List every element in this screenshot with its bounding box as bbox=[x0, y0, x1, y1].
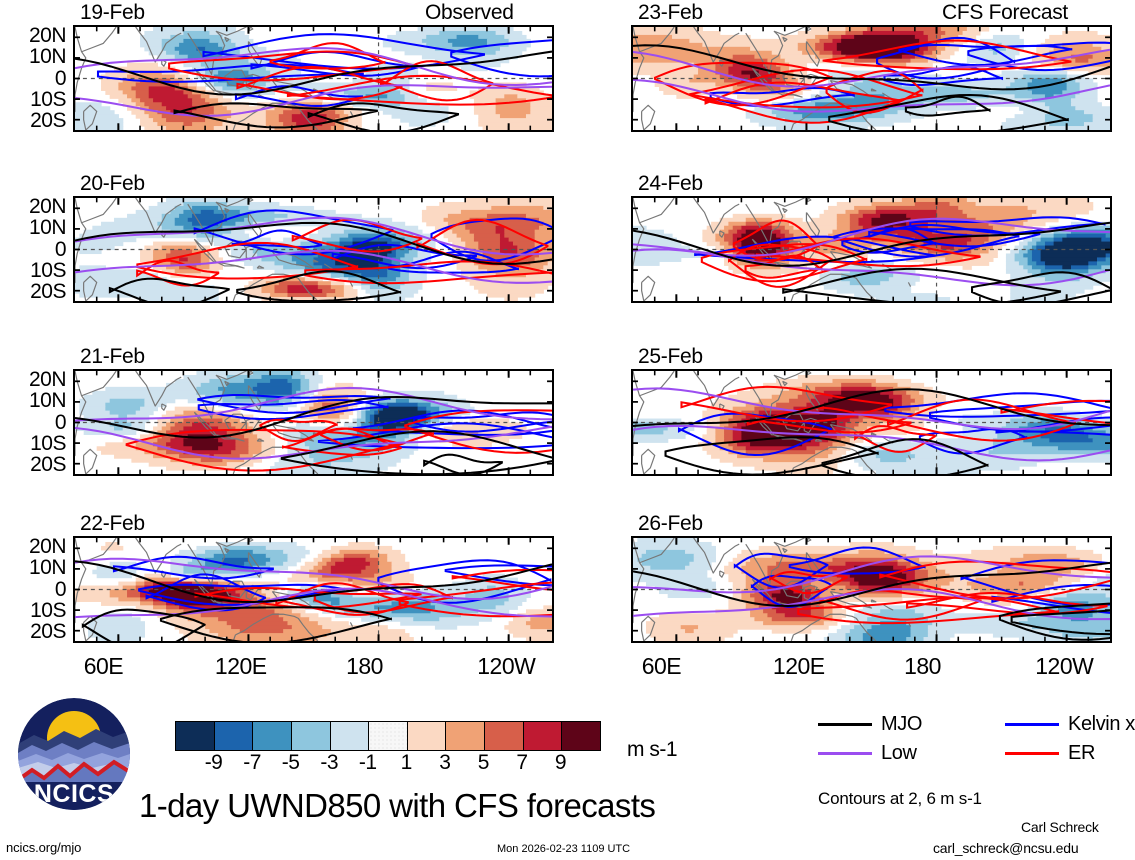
panel-date-label: 23-Feb bbox=[638, 1, 703, 25]
column-header: Observed bbox=[425, 1, 514, 25]
y-tick-label: 20S bbox=[0, 453, 66, 477]
map-panel-23-feb bbox=[631, 25, 1112, 132]
y-tick-label: 20N bbox=[0, 195, 66, 219]
y-tick-label: 20N bbox=[0, 535, 66, 559]
panel-date-label: 19-Feb bbox=[80, 1, 145, 25]
main-title: 1-day UWND850 with CFS forecasts bbox=[139, 787, 655, 825]
colorbar bbox=[175, 721, 601, 751]
panel-date-label: 22-Feb bbox=[80, 512, 145, 536]
panel-plot bbox=[75, 27, 552, 130]
colorbar-tick-label: 3 bbox=[425, 751, 465, 775]
y-tick-label: 10N bbox=[0, 45, 66, 69]
ncics-logo: NCICS bbox=[18, 698, 130, 810]
colorbar-tick-label: 1 bbox=[386, 751, 426, 775]
colorbar-tick-label: -7 bbox=[232, 751, 272, 775]
legend-line-swatch bbox=[1005, 723, 1059, 726]
legend-label: Low bbox=[881, 742, 917, 765]
map-panel-26-feb bbox=[631, 536, 1112, 643]
colorbar-segment bbox=[446, 722, 485, 750]
map-panel-20-feb bbox=[73, 196, 554, 303]
y-tick-label: 20S bbox=[0, 280, 66, 304]
legend-label: Kelvin x2 bbox=[1068, 713, 1135, 736]
x-tick-label: 180 bbox=[904, 653, 941, 680]
colorbar-tick-label: -1 bbox=[348, 751, 388, 775]
ncics-logo-graphic: NCICS bbox=[18, 698, 130, 810]
figure-canvas: 19-FebObserved20-Feb21-Feb22-Feb23-FebCF… bbox=[0, 0, 1135, 860]
colorbar-tick-label: -9 bbox=[194, 751, 234, 775]
map-panel-22-feb bbox=[73, 536, 554, 643]
panel-plot bbox=[75, 198, 552, 301]
colorbar-unit-label: m s-1 bbox=[627, 738, 677, 762]
site-url[interactable]: ncics.org/mjo bbox=[6, 840, 81, 855]
colorbar-segment bbox=[176, 722, 215, 750]
colorbar-tick-label: -5 bbox=[271, 751, 311, 775]
map-panel-21-feb bbox=[73, 369, 554, 476]
x-tick-label: 120E bbox=[773, 653, 825, 680]
legend-line-swatch bbox=[818, 752, 872, 755]
colorbar-segment bbox=[253, 722, 292, 750]
credit-name: Carl Schreck bbox=[1021, 819, 1099, 835]
y-tick-label: 0 bbox=[0, 67, 66, 91]
credit-email: carl_schreck@ncsu.edu bbox=[933, 840, 1078, 856]
legend-line-swatch bbox=[818, 723, 872, 726]
map-panel-25-feb bbox=[631, 369, 1112, 476]
y-tick-label: 20S bbox=[0, 620, 66, 644]
map-panel-24-feb bbox=[631, 196, 1112, 303]
panel-date-label: 25-Feb bbox=[638, 345, 703, 369]
panel-plot bbox=[75, 371, 552, 474]
map-panel-19-feb bbox=[73, 25, 554, 132]
x-tick-label: 60E bbox=[642, 653, 681, 680]
colorbar-segment bbox=[485, 722, 524, 750]
y-tick-label: 0 bbox=[0, 578, 66, 602]
panel-plot bbox=[633, 371, 1110, 474]
y-tick-label: 10N bbox=[0, 216, 66, 240]
x-tick-label: 120W bbox=[477, 653, 535, 680]
x-tick-label: 180 bbox=[346, 653, 383, 680]
colorbar-segment bbox=[562, 722, 600, 750]
x-tick-label: 120W bbox=[1035, 653, 1093, 680]
legend-item-er: ER bbox=[1005, 742, 1095, 765]
legend-item-kelvin-x2: Kelvin x2 bbox=[1005, 713, 1135, 736]
y-tick-label: 20N bbox=[0, 24, 66, 48]
panel-plot bbox=[75, 538, 552, 641]
colorbar-tick-label: 9 bbox=[540, 751, 580, 775]
legend-item-mjo: MJO bbox=[818, 713, 922, 736]
panel-date-label: 24-Feb bbox=[638, 172, 703, 196]
colorbar-tick-label: 7 bbox=[502, 751, 542, 775]
y-tick-label: 0 bbox=[0, 411, 66, 435]
panel-date-label: 20-Feb bbox=[80, 172, 145, 196]
panel-date-label: 21-Feb bbox=[80, 345, 145, 369]
colorbar-segment bbox=[215, 722, 254, 750]
y-tick-label: 10S bbox=[0, 88, 66, 112]
colorbar-segment bbox=[331, 722, 370, 750]
svg-text:NCICS: NCICS bbox=[34, 780, 114, 808]
colorbar-segment bbox=[524, 722, 563, 750]
y-tick-label: 10S bbox=[0, 432, 66, 456]
y-tick-label: 10N bbox=[0, 389, 66, 413]
y-tick-label: 10S bbox=[0, 259, 66, 283]
panel-plot bbox=[633, 198, 1110, 301]
y-tick-label: 10S bbox=[0, 599, 66, 623]
contour-interval-note: Contours at 2, 6 m s-1 bbox=[818, 789, 982, 809]
colorbar-segment bbox=[369, 722, 408, 750]
x-tick-label: 60E bbox=[84, 653, 123, 680]
panel-date-label: 26-Feb bbox=[638, 512, 703, 536]
legend-line-swatch bbox=[1005, 752, 1059, 755]
y-tick-label: 20S bbox=[0, 109, 66, 133]
column-header: CFS Forecast bbox=[942, 1, 1068, 25]
legend-label: ER bbox=[1068, 742, 1095, 765]
colorbar-segment bbox=[292, 722, 331, 750]
y-tick-label: 10N bbox=[0, 556, 66, 580]
colorbar-tick-label: 5 bbox=[463, 751, 503, 775]
panel-plot bbox=[633, 27, 1110, 130]
legend-item-low: Low bbox=[818, 742, 917, 765]
colorbar-tick-label: -3 bbox=[309, 751, 349, 775]
y-tick-label: 20N bbox=[0, 368, 66, 392]
legend-label: MJO bbox=[881, 713, 922, 736]
colorbar-segment bbox=[408, 722, 447, 750]
x-tick-label: 120E bbox=[215, 653, 267, 680]
render-timestamp: Mon 2026-02-23 1109 UTC bbox=[497, 843, 630, 855]
y-tick-label: 0 bbox=[0, 238, 66, 262]
panel-plot bbox=[633, 538, 1110, 641]
